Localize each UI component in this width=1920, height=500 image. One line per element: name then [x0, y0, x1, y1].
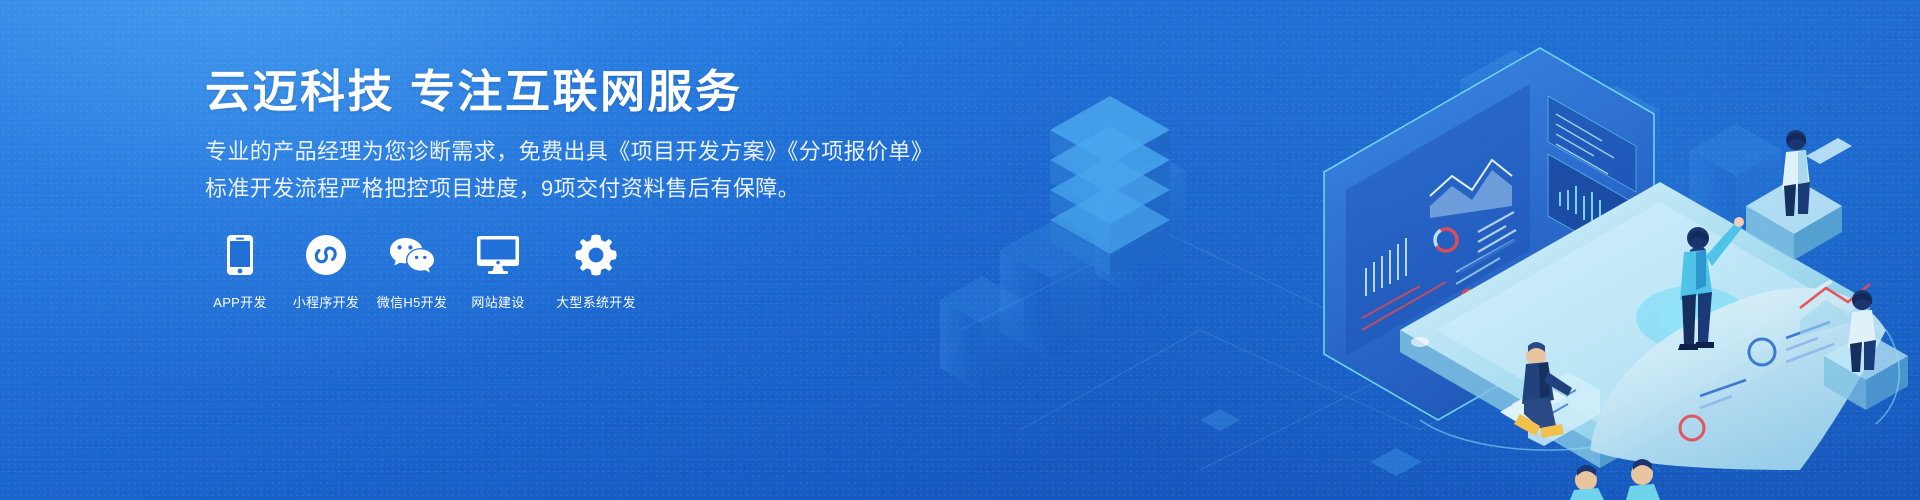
hero-copy-block: 云迈科技 专注互联网服务 专业的产品经理为您诊断需求，免费出具《项目开发方案》《…: [205, 66, 925, 205]
service-label: APP开发: [213, 292, 267, 311]
service-label: 小程序开发: [293, 292, 360, 311]
gear-icon: [573, 232, 619, 278]
service-item-app[interactable]: APP开发: [204, 232, 276, 311]
page-title: 云迈科技 专注互联网服务: [205, 66, 925, 117]
service-item-mini-program[interactable]: 小程序开发: [290, 232, 362, 311]
mini-program-icon: [303, 232, 349, 278]
isometric-tech-illustration: [900, 0, 1920, 500]
service-label: 微信H5开发: [377, 292, 447, 311]
service-label: 网站建设: [471, 292, 524, 311]
wechat-icon: [389, 232, 435, 278]
service-item-wechat-h5[interactable]: 微信H5开发: [376, 232, 448, 311]
service-item-website[interactable]: 网站建设: [462, 232, 534, 311]
hero-banner: 云迈科技 专注互联网服务 专业的产品经理为您诊断需求，免费出具《项目开发方案》《…: [0, 0, 1920, 500]
subtitle-line-2: 标准开发流程严格把控项目进度，9项交付资料售后有保障。: [205, 173, 925, 205]
monitor-icon: [475, 232, 521, 278]
service-list: APP开发 小程序开发 微信: [204, 232, 658, 311]
service-item-large-system[interactable]: 大型系统开发: [548, 232, 644, 311]
service-label: 大型系统开发: [556, 292, 636, 311]
hero-subtitle: 专业的产品经理为您诊断需求，免费出具《项目开发方案》《分项报价单》 标准开发流程…: [205, 136, 925, 205]
smartphone-icon: [217, 232, 263, 278]
subtitle-line-1: 专业的产品经理为您诊断需求，免费出具《项目开发方案》《分项报价单》: [205, 136, 925, 168]
